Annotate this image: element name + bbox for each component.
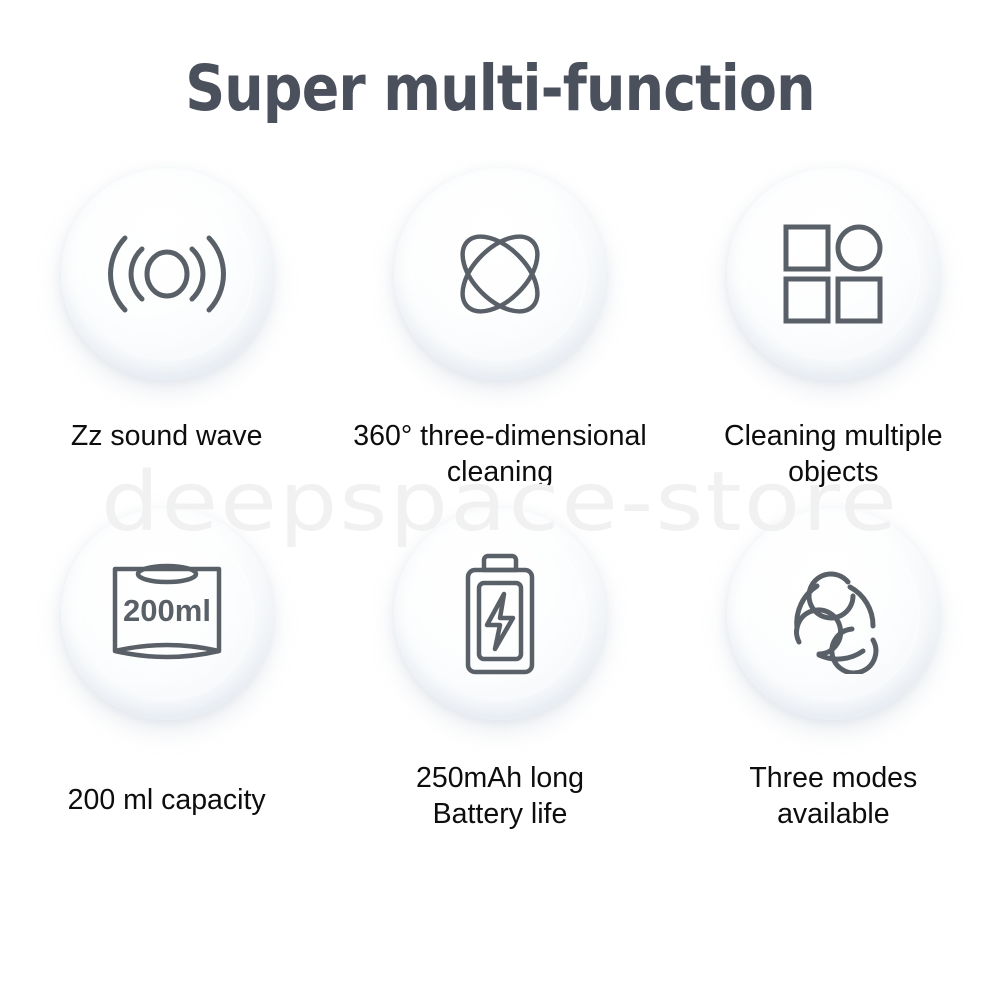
- feature-label: 360° three-dimensional cleaning: [335, 418, 665, 491]
- atom-orbit-icon: [440, 214, 560, 334]
- feature-badge-three-dimensional-cleaning: [394, 168, 606, 380]
- feature-item-three-modes: Three modes available: [667, 508, 1000, 848]
- feature-badge-capacity: 200ml: [61, 508, 273, 720]
- feature-badge-three-modes: [727, 508, 939, 720]
- page-title: Super multi-function: [60, 52, 940, 125]
- feature-item-three-dimensional-cleaning: 360° three-dimensional cleaning: [333, 168, 666, 508]
- feature-label: 200 ml capacity: [2, 782, 332, 818]
- feature-item-capacity: 200ml 200 ml capacity: [0, 508, 333, 848]
- battery-charging-icon: [446, 550, 554, 678]
- feature-label: Zz sound wave: [2, 418, 332, 454]
- feature-label: 250mAh long Battery life: [335, 760, 665, 833]
- feature-label: Three modes available: [668, 760, 998, 833]
- three-modes-cycle-icon: [771, 554, 895, 674]
- sound-wave-icon: [102, 209, 232, 339]
- feature-badge-battery-life: [394, 508, 606, 720]
- feature-badge-cleaning-multiple-objects: [727, 168, 939, 380]
- feature-item-battery-life: 250mAh long Battery life: [333, 508, 666, 848]
- feature-label: Cleaning multiple objects: [668, 418, 998, 491]
- feature-item-sound-wave: Zz sound wave: [0, 168, 333, 508]
- feature-item-cleaning-multiple-objects: Cleaning multiple objects: [667, 168, 1000, 508]
- water-tank-icon: 200ml: [103, 555, 231, 673]
- feature-infographic: Super multi-function deepspace-store Zz …: [0, 0, 1000, 1000]
- capacity-icon-text: 200ml: [123, 593, 211, 628]
- feature-grid: Zz sound wave 360° three-dimensional cle…: [0, 168, 1000, 848]
- grid-shapes-icon: [776, 217, 890, 331]
- feature-badge-sound-wave: [61, 168, 273, 380]
